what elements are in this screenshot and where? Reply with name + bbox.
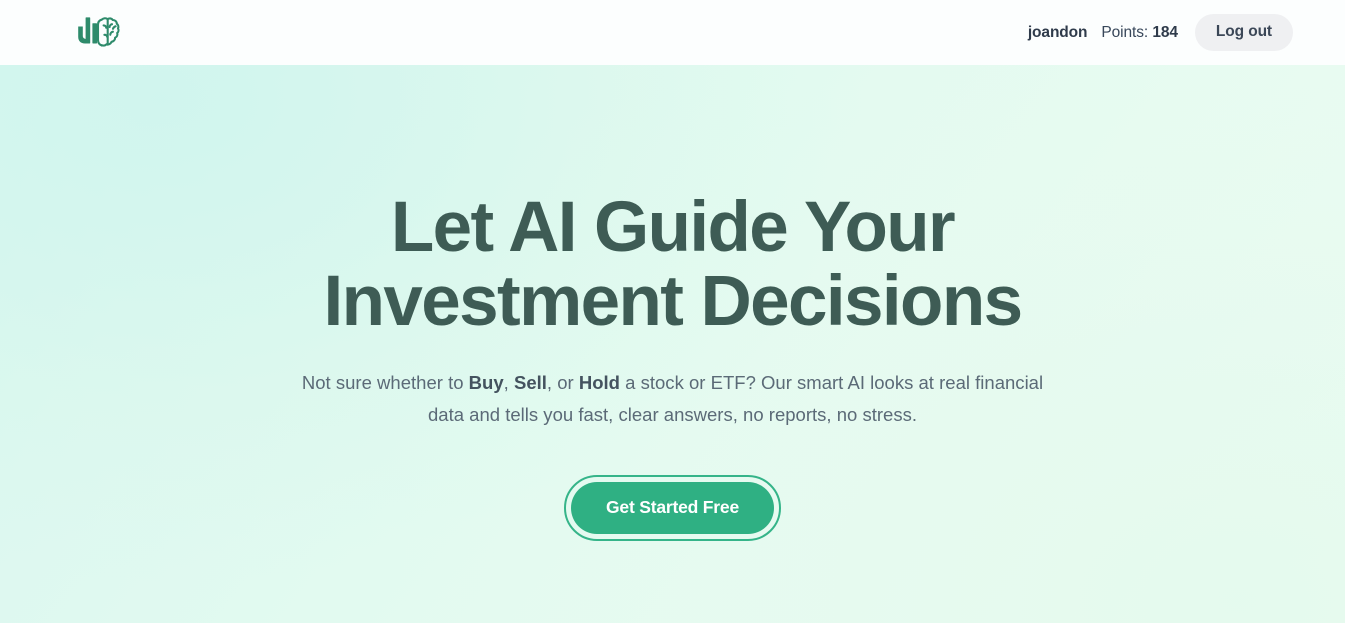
page-root: joandon Points: 184 Log out Let AI Guide… — [0, 0, 1345, 623]
bar-chart-brain-logo-icon — [76, 14, 120, 52]
username-label: joandon — [1028, 24, 1088, 42]
headline-line-1: Let AI Guide Your — [324, 191, 1022, 265]
header-user-area: joandon Points: 184 Log out — [1028, 14, 1293, 52]
points-label: Points: — [1101, 24, 1148, 41]
subtitle-part-2: , — [504, 372, 514, 393]
hero-section: Let AI Guide Your Investment Decisions N… — [0, 65, 1345, 623]
subtitle-bold-buy: Buy — [469, 372, 504, 393]
site-header: joandon Points: 184 Log out — [0, 0, 1345, 65]
subtitle-part-1: Not sure whether to — [302, 372, 469, 393]
subtitle-bold-sell: Sell — [514, 372, 547, 393]
headline-line-2: Investment Decisions — [324, 265, 1022, 339]
points-value: 184 — [1152, 24, 1178, 41]
brand-logo-link[interactable] — [76, 14, 120, 52]
get-started-free-button[interactable]: Get Started Free — [571, 482, 774, 534]
logout-button[interactable]: Log out — [1195, 14, 1293, 52]
subtitle-bold-hold: Hold — [579, 372, 620, 393]
hero-subtitle: Not sure whether to Buy, Sell, or Hold a… — [293, 367, 1053, 431]
page-title: Let AI Guide Your Investment Decisions — [324, 191, 1022, 339]
subtitle-part-3: , or — [547, 372, 579, 393]
cta-focus-ring: Get Started Free — [564, 475, 781, 541]
points-display: Points: 184 — [1101, 24, 1177, 42]
